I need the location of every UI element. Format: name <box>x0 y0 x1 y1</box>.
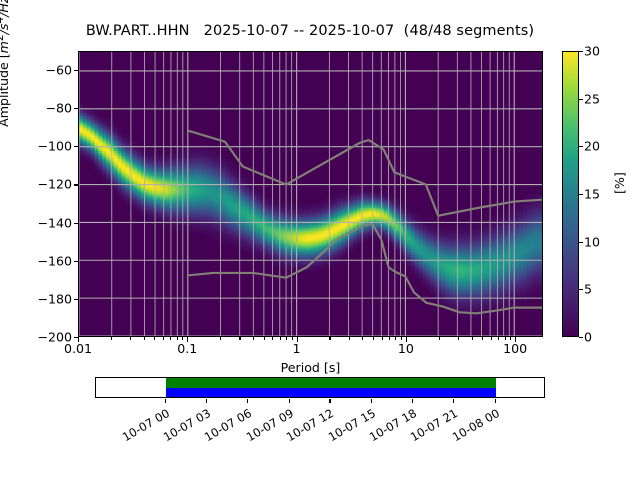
coverage-segment-blue <box>166 388 496 398</box>
x-axis-tick-label: 10 <box>398 341 414 356</box>
colorbar-tick-mark <box>579 51 583 52</box>
y-axis-tick-label: −180 <box>0 291 72 306</box>
colorbar <box>562 51 579 337</box>
x-axis-tick-label: 0.01 <box>64 341 92 356</box>
y-axis-tick-label: −160 <box>0 253 72 268</box>
x-axis-minor-tick <box>382 337 383 340</box>
colorbar-tick-mark <box>579 194 583 195</box>
colorbar-tick-mark <box>579 337 583 338</box>
coverage-tick-mark <box>247 399 248 403</box>
x-axis-minor-tick <box>177 337 178 340</box>
x-axis-minor-tick <box>170 337 171 340</box>
coverage-bar[interactable] <box>95 377 545 398</box>
x-axis-minor-tick <box>510 337 511 340</box>
y-axis-tick-mark <box>74 108 78 109</box>
x-axis-minor-tick <box>389 337 390 340</box>
colorbar-tick-label: 30 <box>584 44 600 59</box>
coverage-tick-mark <box>165 399 166 403</box>
x-axis-minor-tick <box>498 337 499 340</box>
coverage-tick-mark <box>289 399 290 403</box>
coverage-segment-green <box>166 378 496 388</box>
y-axis-label: Amplitude [m2/s4/Hz] [dB] <box>0 0 11 194</box>
noise-model-curves <box>79 52 542 336</box>
colorbar-tick-mark <box>579 99 583 100</box>
x-axis-minor-tick <box>458 337 459 340</box>
x-axis-minor-tick <box>286 337 287 340</box>
x-axis-minor-tick <box>239 337 240 340</box>
x-axis-tick-label: 100 <box>503 341 527 356</box>
x-axis-minor-tick <box>491 337 492 340</box>
x-axis-minor-tick <box>182 337 183 340</box>
y-axis-tick-label: −200 <box>0 330 72 345</box>
x-axis-minor-tick <box>292 337 293 340</box>
coverage-tick-mark <box>495 399 496 403</box>
colorbar-label: [%] <box>612 172 627 194</box>
colorbar-tick-label: 25 <box>584 91 600 106</box>
coverage-tick-mark <box>371 399 372 403</box>
x-axis-minor-tick <box>130 337 131 340</box>
y-axis-tick-mark <box>74 223 78 224</box>
y-axis-tick-mark <box>74 299 78 300</box>
x-axis-tick-label: 1 <box>293 341 301 356</box>
x-axis-minor-tick <box>111 337 112 340</box>
x-axis-minor-tick <box>220 337 221 340</box>
x-axis-minor-tick <box>163 337 164 340</box>
colorbar-tick-label: 20 <box>584 139 600 154</box>
x-axis-minor-tick <box>272 337 273 340</box>
y-axis-tick-mark <box>74 261 78 262</box>
x-axis-minor-tick <box>505 337 506 340</box>
x-axis-minor-tick <box>439 337 440 340</box>
x-axis-minor-tick <box>401 337 402 340</box>
y-axis-tick-mark <box>74 146 78 147</box>
coverage-tick-mark <box>206 399 207 403</box>
x-axis-minor-tick <box>373 337 374 340</box>
colorbar-tick-label: 0 <box>584 330 592 345</box>
x-axis-minor-tick <box>482 337 483 340</box>
y-axis-tick-mark <box>74 337 78 338</box>
x-axis-minor-tick <box>329 337 330 340</box>
y-axis-tick-label: −140 <box>0 215 72 230</box>
coverage-tick-mark <box>329 399 330 403</box>
x-axis-tick-label: 0.1 <box>177 341 197 356</box>
page-title: BW.PART..HHN 2025-10-07 -- 2025-10-07 (4… <box>0 23 620 39</box>
x-axis-minor-tick <box>362 337 363 340</box>
coverage-tick-mark <box>453 399 454 403</box>
x-axis-label: Period [s] <box>78 360 543 375</box>
colorbar-tick-mark <box>579 289 583 290</box>
x-axis-minor-tick <box>395 337 396 340</box>
x-axis-minor-tick <box>280 337 281 340</box>
colorbar-tick-mark <box>579 146 583 147</box>
x-axis-minor-tick <box>349 337 350 340</box>
x-axis-minor-tick <box>154 337 155 340</box>
colorbar-tick-mark <box>579 242 583 243</box>
x-axis-minor-tick <box>253 337 254 340</box>
x-axis-minor-tick <box>472 337 473 340</box>
coverage-tick-mark <box>412 399 413 403</box>
colorbar-tick-label: 15 <box>584 187 600 202</box>
x-axis-minor-tick <box>144 337 145 340</box>
x-axis-minor-tick <box>264 337 265 340</box>
y-axis-tick-mark <box>74 70 78 71</box>
colorbar-tick-label: 5 <box>584 282 592 297</box>
colorbar-tick-label: 10 <box>584 234 600 249</box>
ppsd-axes <box>78 51 543 337</box>
y-axis-tick-mark <box>74 184 78 185</box>
